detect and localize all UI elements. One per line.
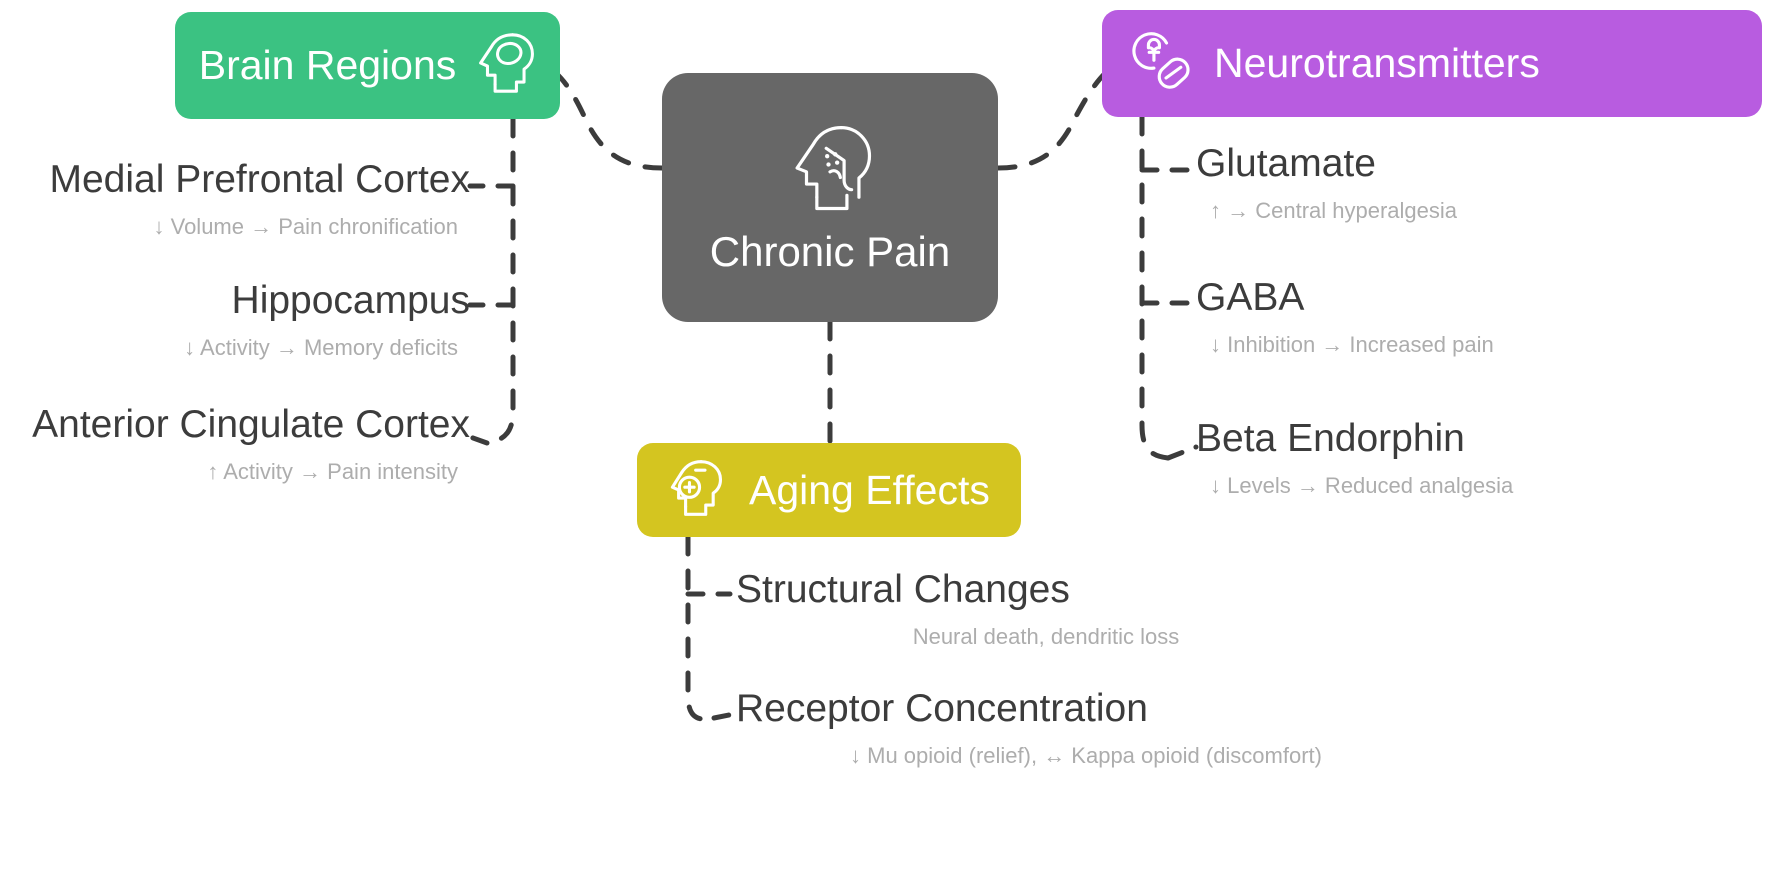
leaf-title: Beta Endorphin xyxy=(1196,419,1465,460)
leaf-title: Anterior Cingulate Cortex xyxy=(32,405,470,446)
branch-node-label-neurotransmitters: Neurotransmitters xyxy=(1214,43,1540,84)
leaf-glutamate[interactable]: Glutamate ↑ → Central hyperalgesia xyxy=(1196,144,1756,223)
connector-trunk-brain-regions xyxy=(487,119,513,443)
branch-node-brain-regions[interactable]: Brain Regions xyxy=(175,12,560,119)
leaf-receptor-concentration[interactable]: Receptor Concentration ↓ Mu opioid (reli… xyxy=(736,689,1436,768)
leaf-medial-prefrontal-cortex[interactable]: Medial Prefrontal Cortex ↓ Volume → Pain… xyxy=(0,160,470,239)
leaf-detail: ↓ Volume → Pain chronification xyxy=(154,215,471,239)
pills-icon xyxy=(1128,28,1194,99)
head-aging-icon xyxy=(667,457,729,524)
connector-trunk-aging-effects xyxy=(688,537,714,719)
leaf-detail: ↓ Activity → Memory deficits xyxy=(184,336,470,360)
leaf-hippocampus[interactable]: Hippocampus ↓ Activity → Memory deficits xyxy=(0,281,470,360)
connector-stub-receptor-concentration xyxy=(714,714,734,718)
leaf-gaba[interactable]: GABA ↓ Inhibition → Increased pain xyxy=(1196,278,1756,357)
leaf-detail: ↓ Inhibition → Increased pain xyxy=(1196,333,1494,357)
leaf-title: Glutamate xyxy=(1196,144,1376,185)
branch-node-neurotransmitters[interactable]: Neurotransmitters xyxy=(1102,10,1762,117)
connector-trunk-neurotransmitters xyxy=(1142,117,1168,458)
leaf-title: Medial Prefrontal Cortex xyxy=(49,160,470,201)
leaf-detail: Neural death, dendritic loss xyxy=(913,625,1180,649)
central-node-label: Chronic Pain xyxy=(710,231,950,273)
leaf-detail: ↓ Mu opioid (relief), ↔ Kappa opioid (di… xyxy=(850,744,1322,768)
connector-stub-beta-endorphin xyxy=(1168,447,1196,458)
leaf-detail: ↑ Activity → Pain intensity xyxy=(207,460,470,484)
branch-node-label-brain-regions: Brain Regions xyxy=(199,45,457,86)
central-node-chronic-pain[interactable]: Chronic Pain xyxy=(662,73,998,322)
branch-node-aging-effects[interactable]: Aging Effects xyxy=(637,443,1021,537)
leaf-title: Structural Changes xyxy=(736,570,1070,611)
leaf-anterior-cingulate-cortex[interactable]: Anterior Cingulate Cortex ↑ Activity → P… xyxy=(0,405,470,484)
branch-node-label-aging-effects: Aging Effects xyxy=(749,470,990,511)
head-brain-icon xyxy=(474,31,536,100)
leaf-title: GABA xyxy=(1196,278,1304,319)
leaf-title: Receptor Concentration xyxy=(736,689,1148,730)
head-pain-icon xyxy=(784,122,876,221)
leaf-detail: ↑ → Central hyperalgesia xyxy=(1196,199,1457,223)
leaf-structural-changes[interactable]: Structural Changes Neural death, dendrit… xyxy=(736,570,1356,649)
leaf-detail: ↓ Levels → Reduced analgesia xyxy=(1196,474,1513,498)
leaf-beta-endorphin[interactable]: Beta Endorphin ↓ Levels → Reduced analge… xyxy=(1196,419,1756,498)
leaf-title: Hippocampus xyxy=(232,281,470,322)
mindmap-canvas: Chronic Pain Brain Regions Neurotr xyxy=(0,0,1767,887)
